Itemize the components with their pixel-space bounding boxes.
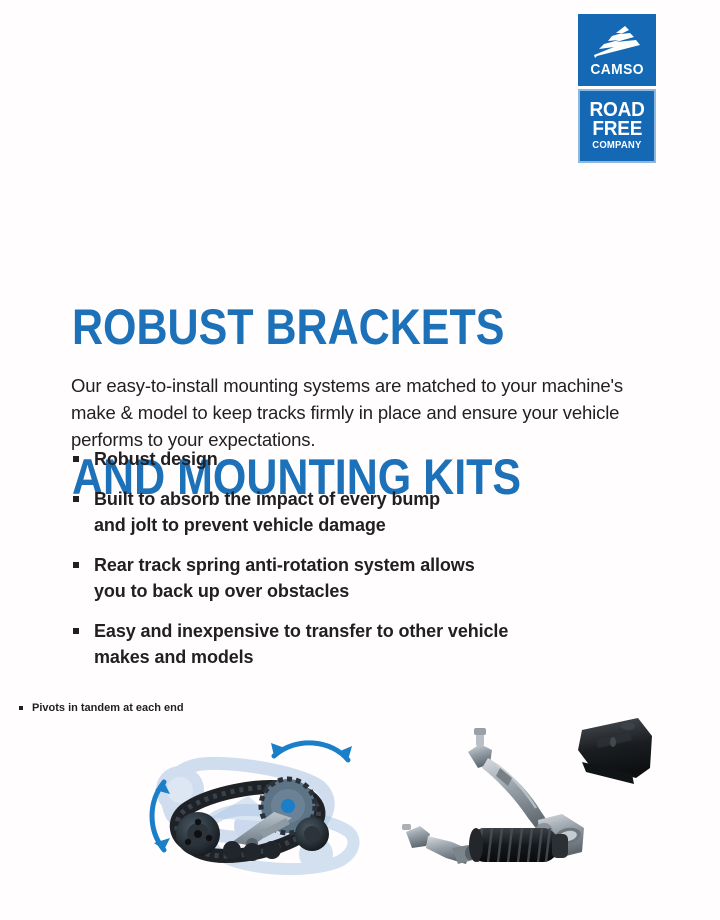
list-item-label: Rear track spring anti-rotation system a…	[94, 552, 631, 604]
black-mounting-bracket	[578, 718, 652, 784]
list-item-label: Robust design	[94, 446, 631, 472]
page-title-line-1: ROBUST BRACKETS	[72, 302, 521, 352]
footnote: Pivots in tandem at each end	[18, 701, 184, 715]
list-item: Easy and inexpensive to transfer to othe…	[71, 618, 631, 670]
footnote-label: Pivots in tandem at each end	[32, 702, 184, 714]
list-item: Robust design	[71, 446, 631, 472]
roadfree-line-free: FREE	[592, 120, 642, 139]
brand-logo-block: CAMSO ROAD FREE COMPANY	[578, 14, 656, 163]
bullet-square-icon	[73, 456, 79, 462]
list-item-label: Easy and inexpensive to transfer to othe…	[94, 618, 631, 670]
roadfree-line-company: COMPANY	[592, 141, 641, 151]
track-diagram-svg	[140, 726, 370, 891]
camso-wordmark: CAMSO	[590, 62, 644, 77]
rear-wheel	[295, 817, 329, 851]
list-item: Rear track spring anti-rotation system a…	[71, 552, 631, 604]
pivot-arrow-top-right[interactable]	[271, 743, 352, 760]
mounting-bracket-hardware-photo	[400, 716, 700, 891]
feature-list: Robust design Built to absorb the impact…	[71, 446, 631, 684]
track-system-pivot-diagram	[140, 726, 370, 891]
list-item: Built to absorb the impact of every bump…	[71, 486, 631, 538]
parts-photo-svg	[400, 716, 700, 891]
bullet-square-icon	[73, 628, 79, 634]
idler-wheel	[176, 812, 220, 856]
coil-spring-damper	[402, 824, 568, 864]
bogie-wheels	[223, 841, 281, 861]
camso-chevron-mark	[594, 25, 640, 59]
bullet-square-icon	[19, 706, 23, 710]
bullet-square-icon	[73, 496, 79, 502]
intro-paragraph: Our easy-to-install mounting systems are…	[71, 372, 631, 453]
road-free-company-box: ROAD FREE COMPANY	[578, 89, 656, 163]
bullet-square-icon	[73, 562, 79, 568]
list-item-label: Built to absorb the impact of every bump…	[94, 486, 631, 538]
sprocket-hub	[281, 799, 295, 813]
camso-logo-box: CAMSO	[578, 14, 656, 86]
